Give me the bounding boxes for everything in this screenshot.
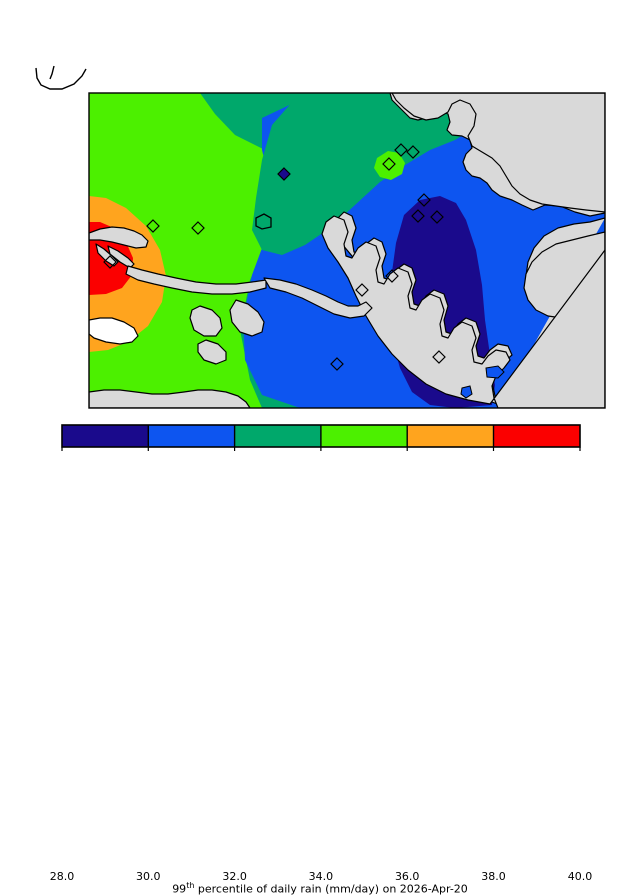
- map-panel: [0, 0, 640, 420]
- map-svg: [0, 0, 640, 420]
- colorbar-caption-sup: th: [186, 881, 194, 890]
- colorbar-segment-28-30: [62, 425, 148, 447]
- colorbar-segment-36-38: [407, 425, 493, 447]
- colorbar-caption-post: percentile of daily rain (mm/day) on 202…: [194, 883, 467, 896]
- colorbar-panel: 28.0 30.0 32.0 34.0 36.0 38.0 40.0 99th …: [0, 420, 640, 480]
- colorbar-segment-30-32: [148, 425, 234, 447]
- colorbar-segment-34-36: [321, 425, 407, 447]
- colorbar-segment-32-34: [235, 425, 321, 447]
- plot-contents: [84, 93, 605, 408]
- weather-map-figure: VictoriaWeather.ca -- Year Total Daily R…: [0, 0, 640, 480]
- colorbar-svg: [0, 420, 640, 480]
- colorbar-caption: 99th percentile of daily rain (mm/day) o…: [0, 881, 640, 896]
- colorbar-caption-pre: 99: [172, 883, 186, 896]
- colorbar-segment-38-40: [494, 425, 581, 447]
